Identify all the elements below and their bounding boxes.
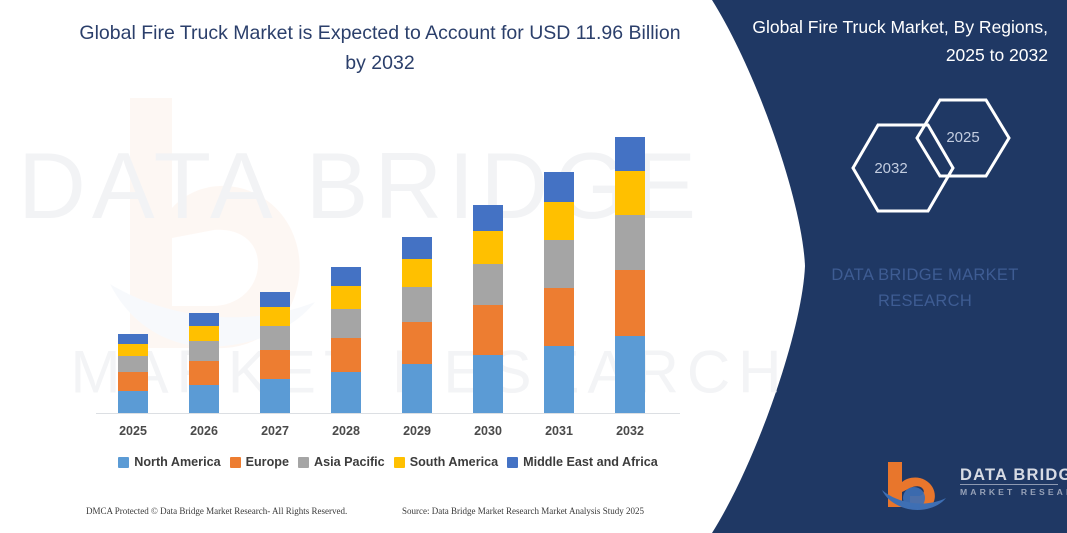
bar-segment bbox=[615, 171, 645, 214]
hexagon-group: 2032 2025 bbox=[820, 98, 1040, 223]
bar-column bbox=[615, 137, 645, 414]
bar-segment bbox=[118, 344, 148, 357]
bar-segment bbox=[473, 305, 503, 354]
x-axis-line bbox=[96, 413, 680, 414]
x-axis-label: 2031 bbox=[529, 424, 589, 438]
hexagon-label-start-year: 2025 bbox=[928, 129, 998, 146]
bar-segment bbox=[331, 267, 361, 285]
bar-segment bbox=[402, 287, 432, 322]
logo-wordmark: DATA BRIDGE bbox=[960, 466, 1067, 485]
legend-item[interactable]: Europe bbox=[230, 455, 289, 469]
legend-label: Europe bbox=[246, 455, 289, 469]
bar-segment bbox=[402, 364, 432, 414]
footer: DMCA Protected © Data Bridge Market Rese… bbox=[0, 506, 690, 526]
bar-segment bbox=[118, 356, 148, 372]
bar-segment bbox=[260, 326, 290, 350]
bar-segment bbox=[189, 313, 219, 326]
bar-segment bbox=[331, 372, 361, 414]
legend-swatch bbox=[298, 457, 309, 468]
hexagon-outlines-icon bbox=[820, 98, 1040, 223]
bar-segment bbox=[118, 334, 148, 344]
infographic-root: DATA BRIDGE MARKET RESEARCH Global Fire … bbox=[0, 0, 1067, 533]
bar-segment bbox=[544, 288, 574, 345]
x-axis-label: 2032 bbox=[600, 424, 660, 438]
bar-segment bbox=[473, 355, 503, 414]
bar-column bbox=[189, 313, 219, 414]
bar-segment bbox=[189, 385, 219, 414]
bar-segment bbox=[544, 202, 574, 240]
legend-swatch bbox=[118, 457, 129, 468]
bar-segment bbox=[473, 231, 503, 264]
bar-segment bbox=[331, 309, 361, 338]
bar-column bbox=[473, 205, 503, 414]
bar-column bbox=[402, 237, 432, 414]
legend-item[interactable]: South America bbox=[394, 455, 498, 469]
x-axis-label: 2025 bbox=[103, 424, 163, 438]
x-axis-label: 2029 bbox=[387, 424, 447, 438]
logo-divider bbox=[960, 484, 1058, 485]
footer-copyright: DMCA Protected © Data Bridge Market Rese… bbox=[86, 506, 347, 516]
panel-title: Global Fire Truck Market, By Regions, 20… bbox=[740, 13, 1048, 69]
bar-segment bbox=[118, 391, 148, 414]
bar-segment bbox=[402, 237, 432, 259]
bar-segment bbox=[402, 259, 432, 287]
bar-column bbox=[331, 267, 361, 414]
bar-segment bbox=[544, 240, 574, 288]
stacked-bar-chart bbox=[96, 120, 676, 414]
bar-segment bbox=[473, 205, 503, 231]
bar-segment bbox=[615, 137, 645, 172]
bar-segment bbox=[260, 350, 290, 379]
x-axis-labels: 20252026202720282029203020312032 bbox=[96, 424, 680, 444]
hexagon-label-end-year: 2032 bbox=[856, 160, 926, 177]
bar-column bbox=[544, 172, 574, 414]
legend-swatch bbox=[507, 457, 518, 468]
bar-segment bbox=[473, 264, 503, 306]
bar-segment bbox=[331, 338, 361, 373]
brand-name: DATA BRIDGE MARKET RESEARCH bbox=[800, 262, 1050, 314]
legend-label: Middle East and Africa bbox=[523, 455, 658, 469]
bar-segment bbox=[615, 270, 645, 336]
bar-column bbox=[118, 334, 148, 414]
bar-segment bbox=[189, 341, 219, 361]
page-title: Global Fire Truck Market is Expected to … bbox=[70, 18, 690, 78]
legend-item[interactable]: North America bbox=[118, 455, 220, 469]
bar-segment bbox=[189, 361, 219, 385]
legend-item[interactable]: Middle East and Africa bbox=[507, 455, 658, 469]
legend-label: South America bbox=[410, 455, 498, 469]
bar-segment bbox=[118, 372, 148, 391]
legend-item[interactable]: Asia Pacific bbox=[298, 455, 385, 469]
chart-legend: North AmericaEuropeAsia PacificSouth Ame… bbox=[96, 455, 680, 469]
bar-segment bbox=[615, 336, 645, 414]
bar-segment bbox=[544, 346, 574, 414]
bar-segment bbox=[260, 307, 290, 326]
x-axis-label: 2026 bbox=[174, 424, 234, 438]
bar-segment bbox=[260, 379, 290, 414]
bar-segment bbox=[331, 286, 361, 309]
logo-tagline: MARKET RESEARCH bbox=[960, 487, 1067, 497]
bar-segment bbox=[189, 326, 219, 342]
legend-label: Asia Pacific bbox=[314, 455, 385, 469]
x-axis-label: 2027 bbox=[245, 424, 305, 438]
bar-segment bbox=[615, 215, 645, 270]
legend-swatch bbox=[230, 457, 241, 468]
footer-source: Source: Data Bridge Market Research Mark… bbox=[402, 506, 644, 516]
bar-segment bbox=[544, 172, 574, 202]
legend-label: North America bbox=[134, 455, 220, 469]
x-axis-label: 2030 bbox=[458, 424, 518, 438]
bar-column bbox=[260, 292, 290, 414]
x-axis-label: 2028 bbox=[316, 424, 376, 438]
bar-segment bbox=[260, 292, 290, 307]
legend-swatch bbox=[394, 457, 405, 468]
bar-segment bbox=[402, 322, 432, 364]
